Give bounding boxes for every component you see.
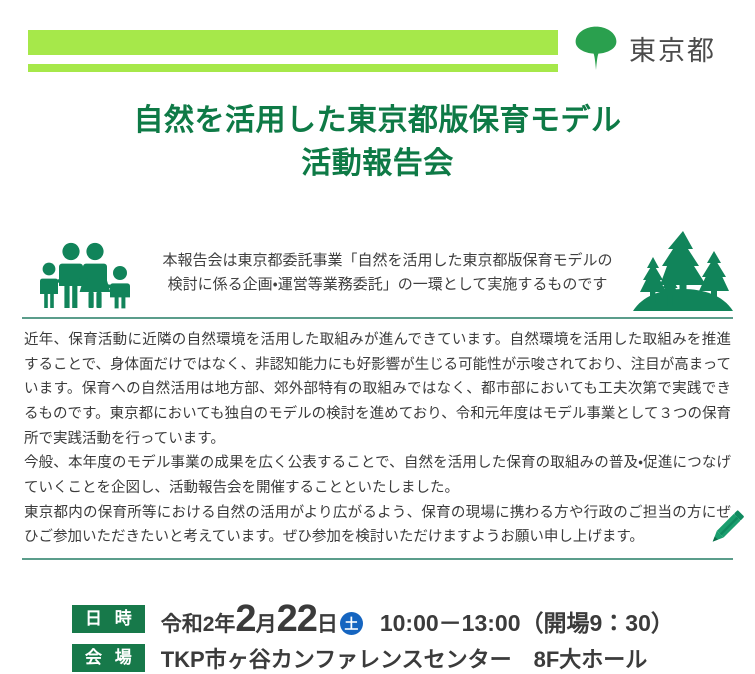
intro-text-line-2: 検討に係る企画・運営等業務委託」の一環として実施するものです (150, 273, 625, 297)
date-day-unit: 日 (317, 608, 338, 638)
logo-text: 東京都 (629, 29, 716, 68)
body-paragraph: 東京都内の保育所等における自然の活用がより広がるよう、保育の現場に携わる方や行政… (24, 501, 731, 550)
body-section: 近年、保育活動に近隣の自然環境を活用した取組みが進んできています。自然環境を活用… (0, 328, 755, 550)
intro-text: 本報告会は東京都委託事業「自然を活用した東京都版保育モデルの 検討に係る企画・運… (150, 249, 625, 296)
body-paragraph: 近年、保育活動に近隣の自然環境を活用した取組みが進んできています。自然環境を活用… (24, 328, 731, 451)
event-time: 10:00－13:00（開場9：30） (380, 604, 674, 638)
page-title-line-2: 活動報告会 (0, 143, 755, 186)
date-value: 令和2年 2 月 22 日 土 10:00－13:00（開場9：30） (161, 600, 674, 638)
tokyo-logo: 東京都 (575, 26, 716, 70)
venue-value: TKP市ヶ谷カンファレンスセンター 8F大ホール (161, 642, 648, 674)
date-month-unit: 月 (256, 608, 277, 638)
accent-bar-thick (28, 30, 558, 55)
event-details: 日 時 令和2年 2 月 22 日 土 10:00－13:00（開場9：30） … (0, 600, 755, 674)
date-badge: 日 時 (72, 605, 145, 632)
intro-text-line-1: 本報告会は東京都委託事業「自然を活用した東京都版保育モデルの (150, 249, 625, 273)
venue-badge: 会 場 (72, 644, 145, 671)
accent-bar-gap (28, 55, 558, 64)
page-header: 東京都 (0, 0, 755, 92)
date-month-number: 2 (235, 600, 255, 638)
date-day-number: 22 (277, 600, 317, 638)
date-era: 令和2年 (161, 608, 236, 638)
page-title-line-1: 自然を活用した東京都版保育モデル (0, 100, 755, 143)
detail-row-date: 日 時 令和2年 2 月 22 日 土 10:00－13:00（開場9：30） (72, 600, 755, 638)
page-title: 自然を活用した東京都版保育モデル 活動報告会 (0, 100, 755, 185)
family-silhouette-icon (38, 233, 138, 314)
pine-trees-icon (629, 225, 737, 322)
day-of-week-badge: 土 (340, 612, 363, 635)
divider-top (22, 317, 733, 319)
pencil-icon (703, 505, 749, 556)
body-paragraph: 今般、本年度のモデル事業の成果を広く公表することで、自然を活用した保育の取組みの… (24, 451, 731, 500)
intro-section: 本報告会は東京都委託事業「自然を活用した東京都版保育モデルの 検討に係る企画・運… (0, 225, 755, 317)
header-accent-bars (28, 30, 558, 72)
divider-bottom (22, 558, 733, 560)
ginkgo-leaf-icon (575, 26, 617, 70)
detail-row-venue: 会 場 TKP市ヶ谷カンファレンスセンター 8F大ホール (72, 642, 755, 674)
accent-bar-thin (28, 64, 558, 72)
